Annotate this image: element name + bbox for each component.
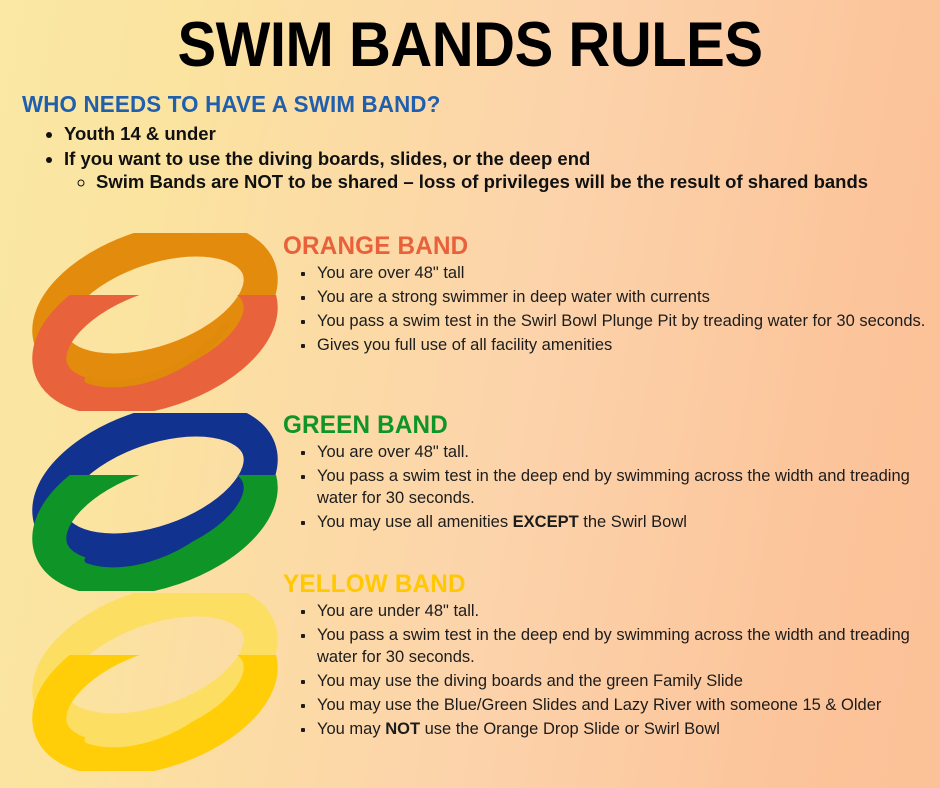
list-item: You may use all amenities EXCEPT the Swi…	[315, 512, 933, 534]
list-item: You may use the diving boards and the gr…	[315, 671, 933, 693]
list-item: Swim Bands are NOT to be shared – loss o…	[96, 170, 940, 194]
orange-wristband-illustration	[30, 233, 280, 411]
orange-band-heading: ORANGE BAND	[283, 232, 914, 261]
list-item-text-pre: You may	[317, 720, 385, 738]
orange-band-list: You are over 48" tall You are a strong s…	[283, 263, 933, 357]
list-item-text-post: use the Orange Drop Slide or Swirl Bowl	[420, 720, 720, 738]
list-item: You pass a swim test in the deep end by …	[315, 625, 933, 669]
list-item: You may use the Blue/Green Slides and La…	[315, 695, 933, 717]
intro-heading: WHO NEEDS TO HAVE A SWIM BAND?	[22, 91, 912, 118]
list-item: You are over 48" tall	[315, 263, 933, 285]
yellow-band-heading: YELLOW BAND	[283, 570, 914, 599]
list-item: You may NOT use the Orange Drop Slide or…	[315, 719, 933, 741]
list-item: You pass a swim test in the Swirl Bowl P…	[315, 311, 933, 333]
yellow-wristband-illustration	[30, 593, 280, 771]
list-item: You are a strong swimmer in deep water w…	[315, 287, 933, 309]
intro-block: WHO NEEDS TO HAVE A SWIM BAND? Youth 14 …	[0, 77, 940, 194]
section-orange-band: ORANGE BAND You are over 48" tall You ar…	[283, 232, 933, 359]
section-yellow-band: YELLOW BAND You are under 48" tall. You …	[283, 570, 933, 743]
list-item: You pass a swim test in the deep end by …	[315, 466, 933, 510]
page-title: SWIM BANDS RULES	[38, 0, 903, 77]
green-band-heading: GREEN BAND	[283, 411, 914, 440]
list-item: You are over 48" tall.	[315, 442, 933, 464]
intro-sublist: Swim Bands are NOT to be shared – loss o…	[64, 170, 940, 194]
list-item: Youth 14 & under	[64, 122, 940, 146]
green-wristband-illustration	[30, 413, 280, 591]
list-item-emphasis: NOT	[385, 720, 420, 738]
yellow-band-list: You are under 48" tall. You pass a swim …	[283, 601, 933, 741]
intro-list: Youth 14 & under If you want to use the …	[22, 122, 940, 194]
list-item-emphasis: EXCEPT	[513, 513, 579, 531]
section-green-band: GREEN BAND You are over 48" tall. You pa…	[283, 411, 933, 536]
poster-root: SWIM BANDS RULES WHO NEEDS TO HAVE A SWI…	[0, 0, 940, 788]
list-item-text-post: the Swirl Bowl	[579, 513, 687, 531]
green-band-list: You are over 48" tall. You pass a swim t…	[283, 442, 933, 534]
list-item-text-pre: You may use all amenities	[317, 513, 513, 531]
list-item: If you want to use the diving boards, sl…	[64, 147, 940, 194]
list-item: You are under 48" tall.	[315, 601, 933, 623]
list-item: Gives you full use of all facility ameni…	[315, 335, 933, 357]
